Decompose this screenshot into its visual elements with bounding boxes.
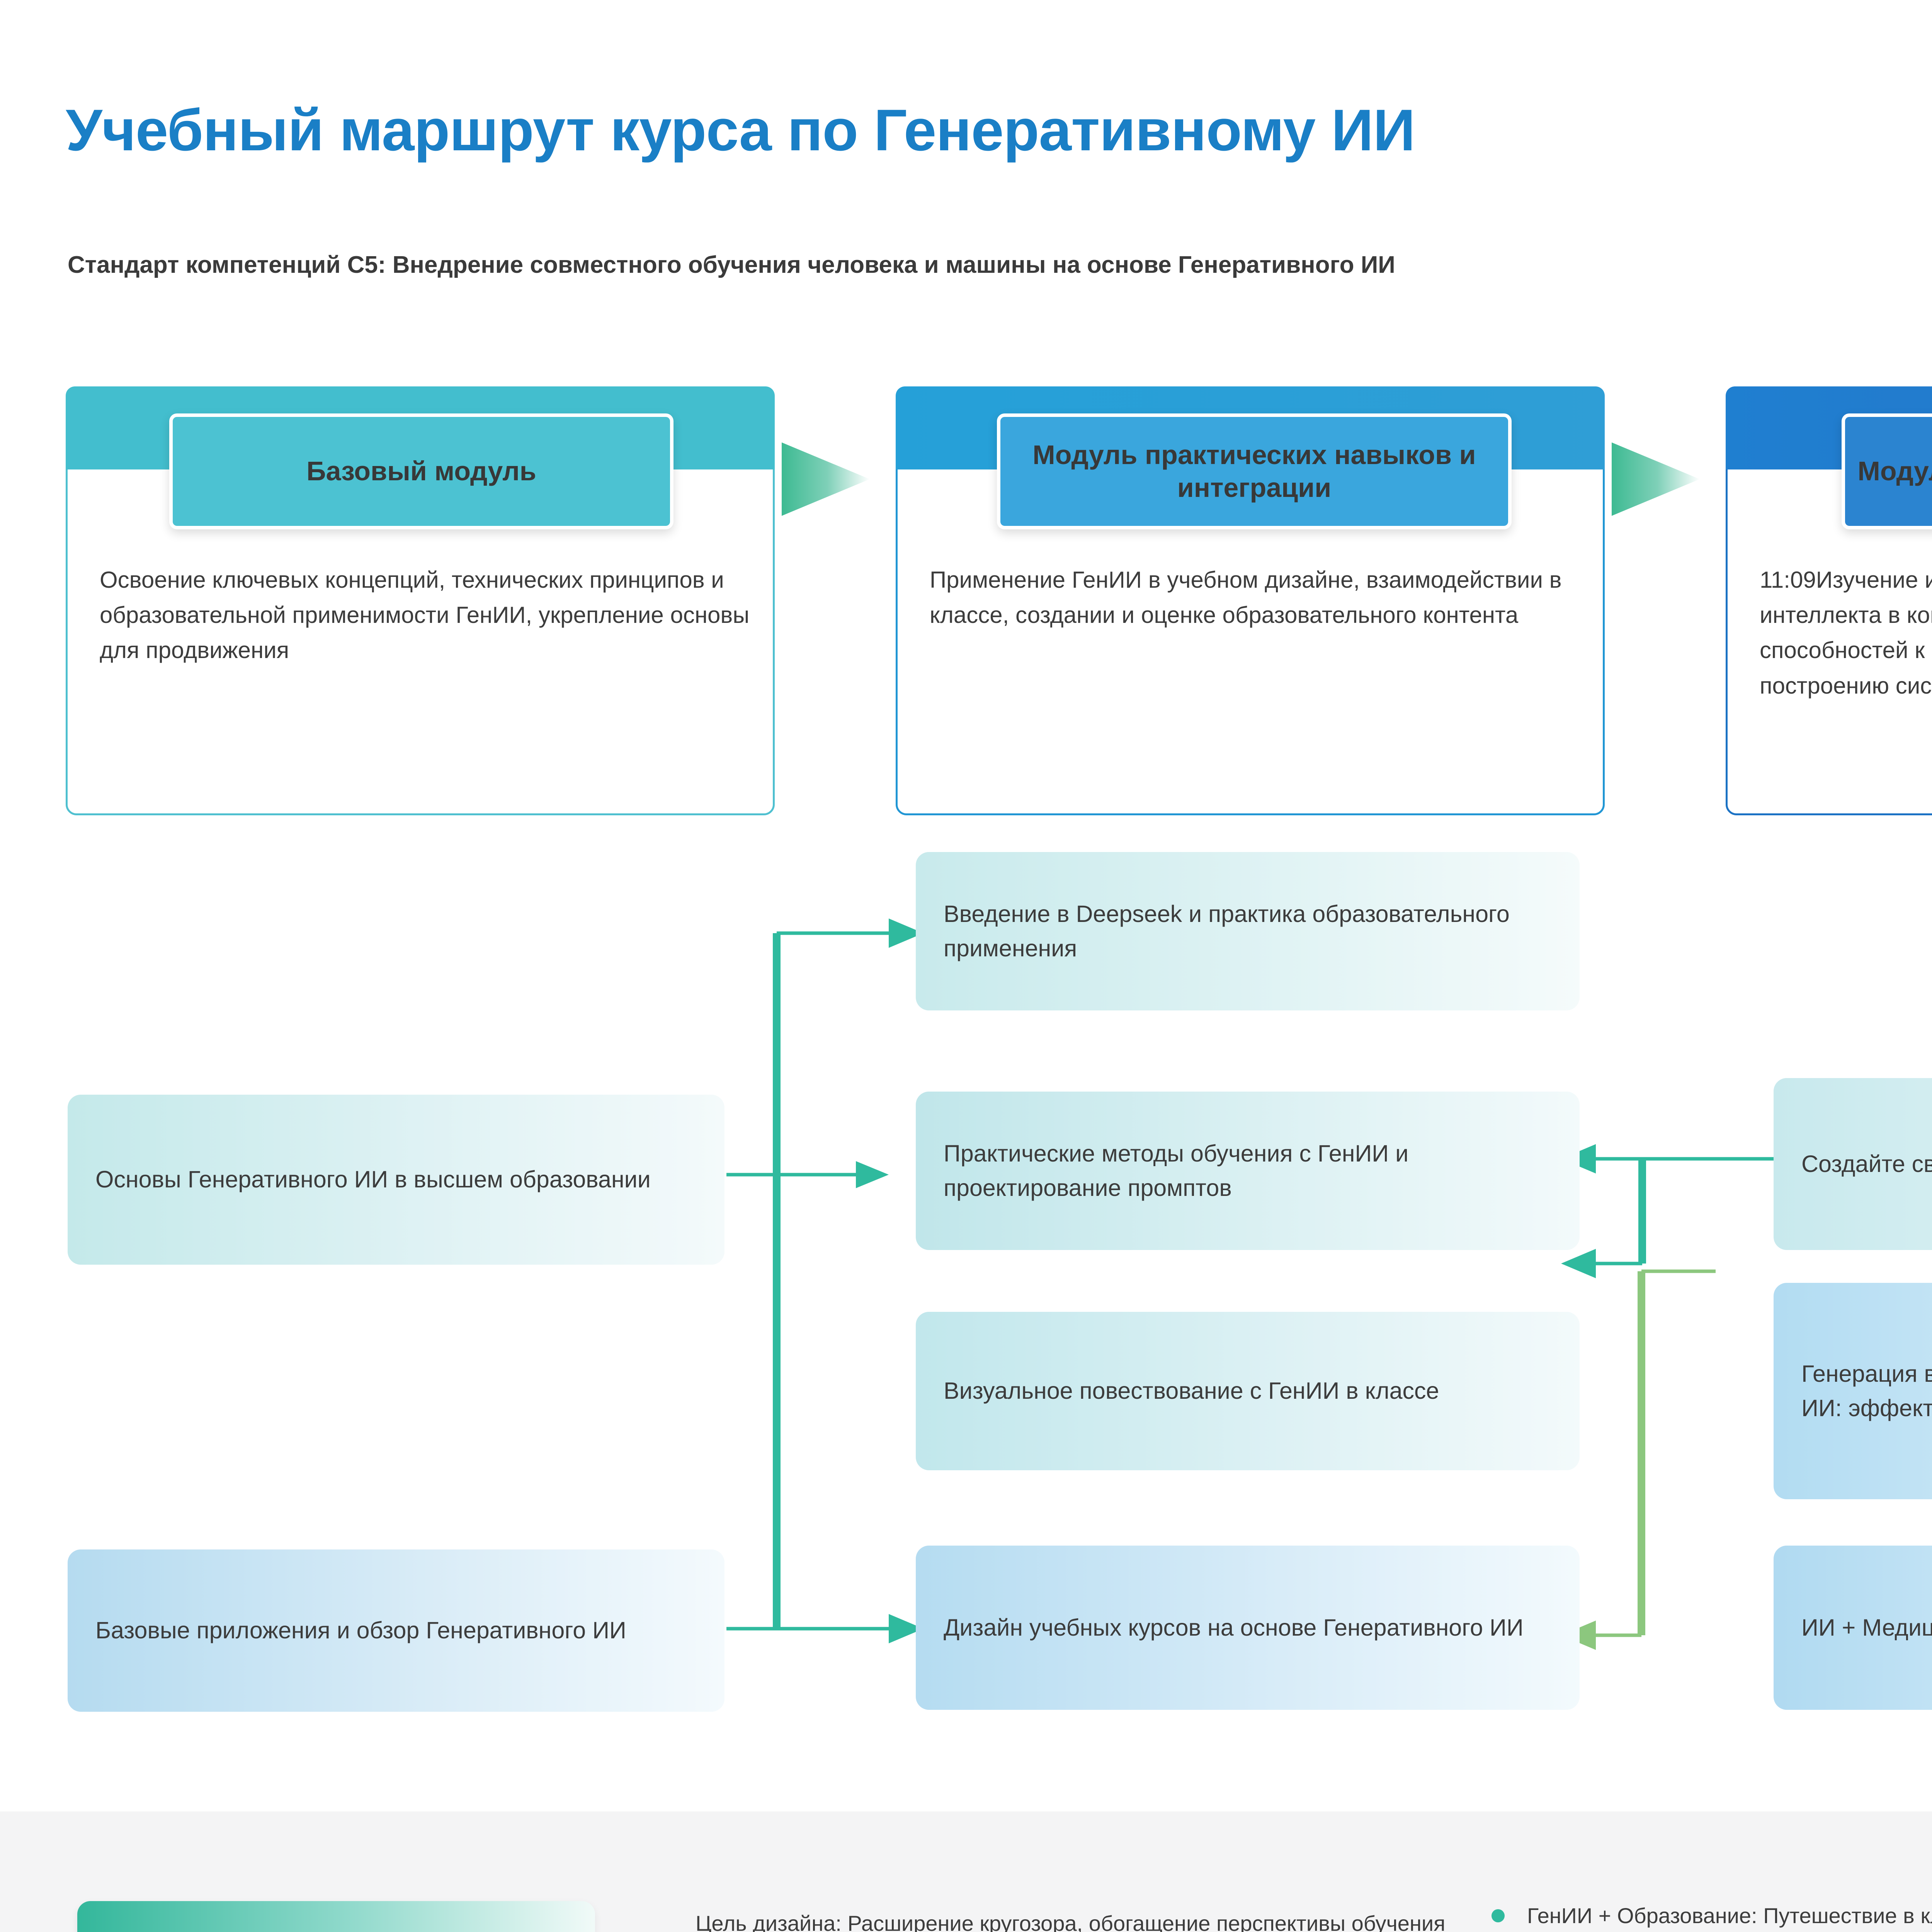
- module-card-description: Освоение ключевых концепций, технических…: [100, 562, 752, 668]
- module-card-application[interactable]: Модуль применения и инноваций 11:09Изуче…: [1726, 386, 1932, 815]
- list-item-label: ГенИИ + Образование: Путешествие в класс…: [1527, 1903, 1932, 1928]
- footer-badge-additional-courses: Дополнительные курсы: [77, 1901, 595, 1932]
- bullet-dot-icon: [1492, 1909, 1505, 1922]
- course-box-middle-2[interactable]: Практические методы обучения с ГенИИ и п…: [916, 1092, 1580, 1250]
- course-box-middle-1[interactable]: Введение в Deepseek и практика образоват…: [916, 852, 1580, 1010]
- page-subtitle: Стандарт компетенций C5: Внедрение совме…: [68, 251, 1395, 279]
- course-box-right-3[interactable]: ИИ + Медицина: Приложения и прорывы: [1774, 1546, 1932, 1710]
- learning-path-infographic: Учебный маршрут курса по Генеративному И…: [0, 0, 1932, 1932]
- course-box-right-1[interactable]: Создайте своего ИИ-чат-бота: от основ к …: [1774, 1078, 1932, 1250]
- module-flow-arrow-2: [1612, 442, 1700, 516]
- course-box-middle-4[interactable]: Дизайн учебных курсов на основе Генерати…: [916, 1546, 1580, 1710]
- arrow-right-icon: [1612, 442, 1700, 516]
- module-card-basic[interactable]: Базовый модуль Освоение ключевых концепц…: [66, 386, 775, 815]
- module-card-practical[interactable]: Модуль практических навыков и интеграции…: [896, 386, 1605, 815]
- course-box-middle-3[interactable]: Визуальное повествование с ГенИИ в класс…: [916, 1312, 1580, 1470]
- module-card-badge: Модуль практических навыков и интеграции: [997, 413, 1512, 529]
- course-box-right-2[interactable]: Генерация видео и цифровых аватаров с по…: [1774, 1283, 1932, 1499]
- module-card-badge: Базовый модуль: [169, 413, 673, 529]
- course-box-left-1[interactable]: Основы Генеративного ИИ в высшем образов…: [68, 1095, 724, 1265]
- arrow-right-icon: [782, 442, 870, 516]
- module-card-description: Применение ГенИИ в учебном дизайне, взаи…: [930, 562, 1582, 633]
- footer-design-goal-text: Цель дизайна: Расширение кругозора, обог…: [696, 1907, 1476, 1932]
- list-item[interactable]: ГенИИ + Образование: Путешествие в класс…: [1484, 1899, 1932, 1932]
- course-box-left-2[interactable]: Базовые приложения и обзор Генеративного…: [68, 1549, 724, 1712]
- module-card-badge: Модуль применения и инноваций: [1842, 413, 1932, 529]
- footer-extra-course-list: ГенИИ + Образование: Путешествие в класс…: [1484, 1899, 1932, 1932]
- module-card-description: 11:09Изучение инновационных практик иску…: [1760, 562, 1932, 703]
- module-flow-arrow-1: [782, 442, 870, 516]
- page-title: Учебный маршрут курса по Генеративному И…: [66, 97, 1415, 164]
